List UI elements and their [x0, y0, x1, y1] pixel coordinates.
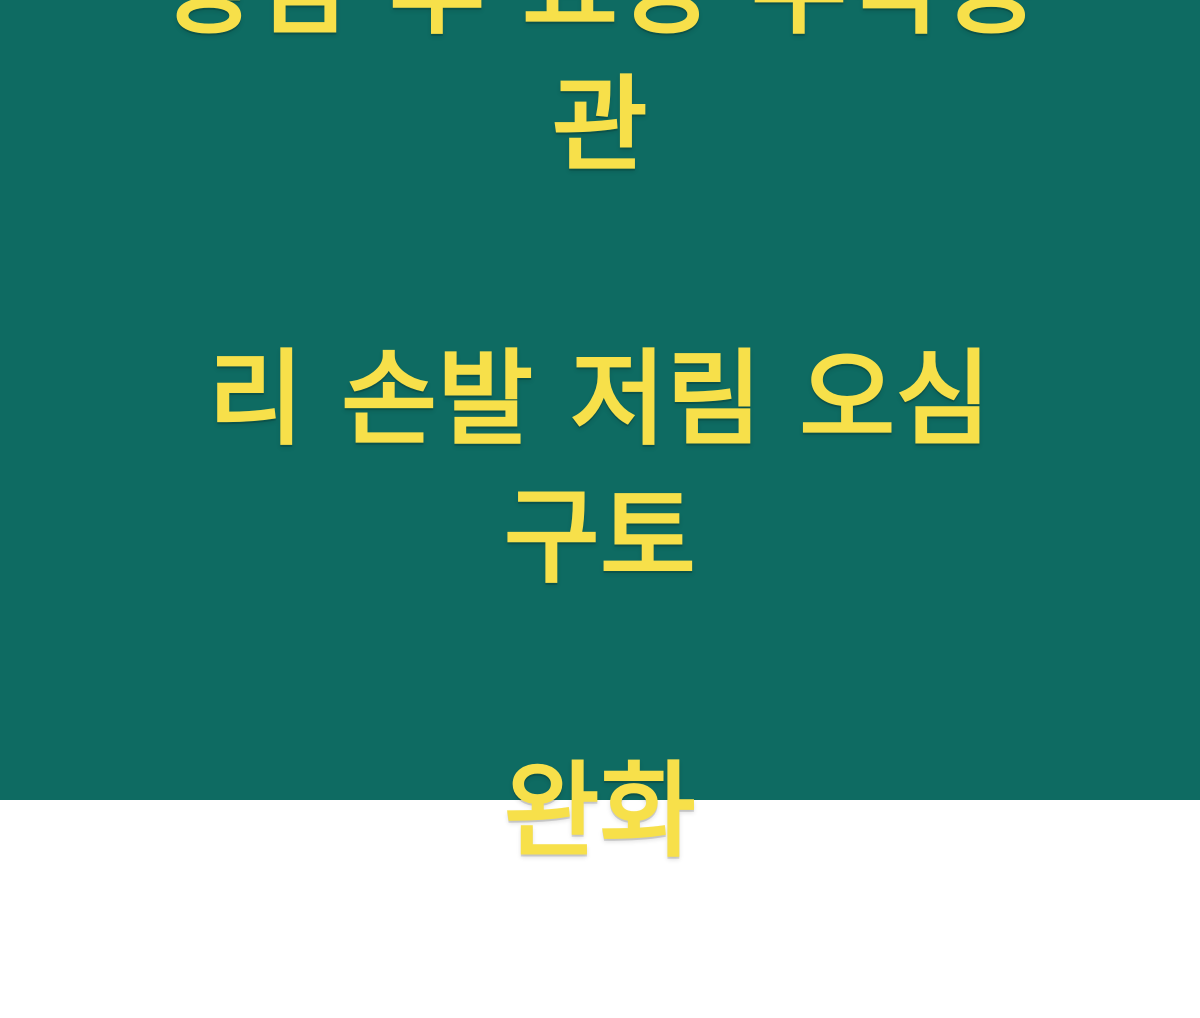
page-title: 항암 후 요양 부작용 관 리 손발 저림 오심 구토 완화 [95, 0, 1105, 1018]
headline-line-3: 완화 [95, 743, 1105, 880]
headline-line-2: 리 손발 저림 오심 구토 [95, 331, 1105, 606]
headline-line-1: 항암 후 요양 부작용 관 [95, 0, 1105, 194]
poster-canvas: 항암 후 요양 부작용 관 리 손발 저림 오심 구토 완화 [0, 0, 1200, 800]
